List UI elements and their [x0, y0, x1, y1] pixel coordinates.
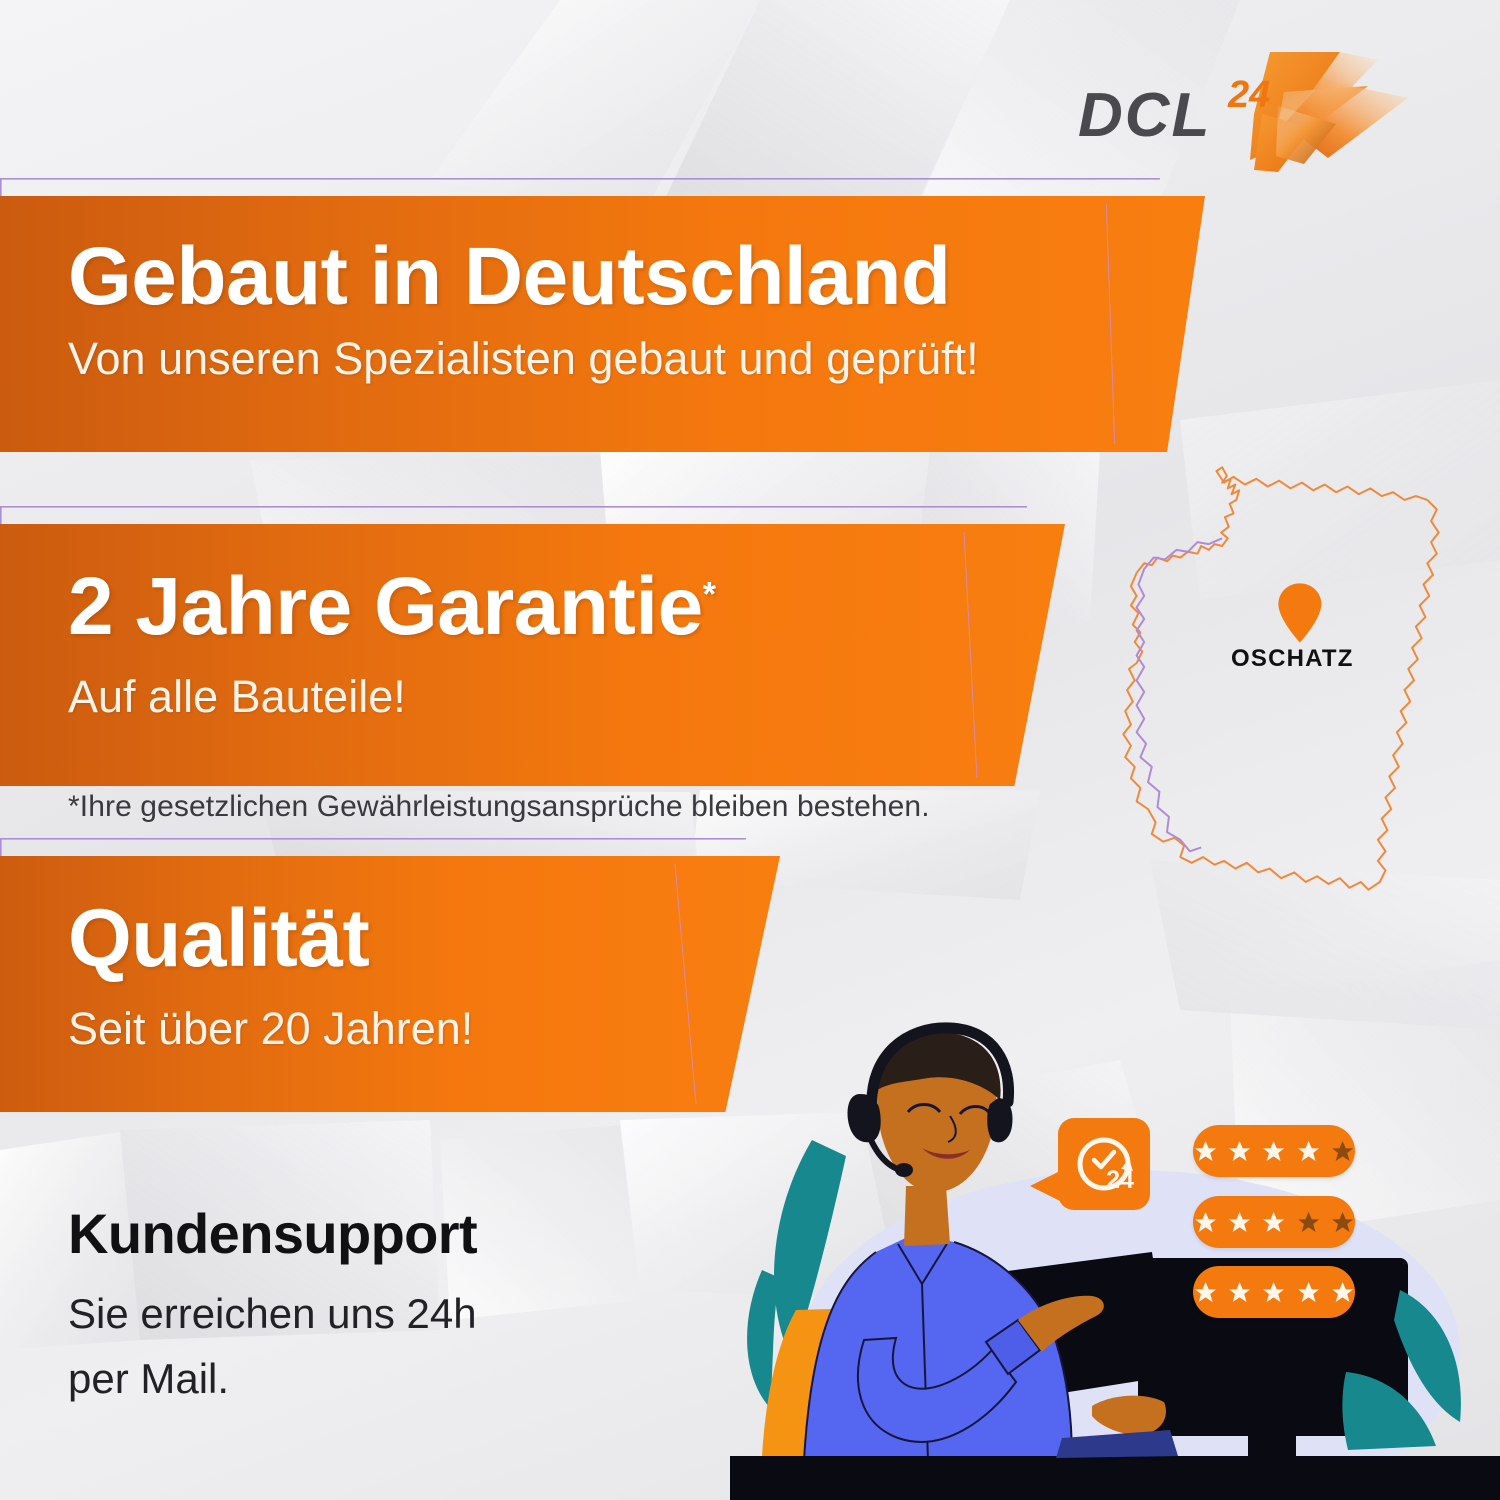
brand-logo: DCL 24 — [1078, 52, 1408, 172]
germany-west-border-path — [1137, 538, 1223, 851]
star-icon — [1261, 1209, 1286, 1236]
logo-wordmark: DCL — [1078, 80, 1211, 151]
agent-neck — [904, 1186, 950, 1246]
star-icon-empty — [1330, 1138, 1355, 1165]
headset-earcup — [848, 1094, 881, 1142]
banner-content: Gebaut in Deutschland Von unseren Spezia… — [68, 236, 979, 384]
map-city-label: OSCHATZ — [1231, 645, 1354, 673]
banner-gebaut-in-deutschland: Gebaut in Deutschland Von unseren Spezia… — [0, 196, 1205, 452]
support-agent-illustration — [700, 1020, 1500, 1500]
star-icon — [1296, 1279, 1321, 1306]
banner-subtitle: Von unseren Spezialisten gebaut und gepr… — [68, 334, 979, 384]
germany-outline-path — [1123, 467, 1438, 889]
star-icon — [1330, 1279, 1355, 1306]
star-icon — [1227, 1138, 1252, 1165]
banner-title: 2 Jahre Garantie* — [68, 566, 716, 648]
star-icon — [1296, 1138, 1321, 1165]
rating-pill-3 — [1193, 1266, 1355, 1318]
star-icon — [1227, 1209, 1252, 1236]
rating-pill-1 — [1193, 1125, 1355, 1177]
star-icon — [1261, 1138, 1286, 1165]
map-pin-icon — [1278, 583, 1321, 642]
banner-title-superscript: * — [703, 576, 716, 614]
banner-title: Qualität — [68, 898, 473, 980]
banner-content: 2 Jahre Garantie* Auf alle Bauteile! — [68, 566, 716, 722]
banner-qualitaet: Qualität Seit über 20 Jahren! — [0, 856, 780, 1112]
promo-graphic: DCL 24 Gebaut in Deutschland Von unseren… — [0, 0, 1500, 1500]
germany-map — [1090, 440, 1490, 940]
star-icon-empty — [1296, 1209, 1321, 1236]
banner-content: Qualität Seit über 20 Jahren! — [68, 898, 473, 1054]
star-icon — [1193, 1209, 1218, 1236]
clock-24-icon: 24 — [1058, 1118, 1150, 1210]
headset-earcup-right — [987, 1098, 1012, 1142]
logo-superscript: 24 — [1228, 74, 1270, 117]
support-24h-badge: 24 — [1058, 1118, 1150, 1210]
star-icon — [1193, 1279, 1218, 1306]
banner-title: Gebaut in Deutschland — [68, 236, 979, 318]
customer-support-block: Kundensupport Sie erreichen uns 24h per … — [68, 1206, 477, 1410]
banner-2-jahre-garantie: 2 Jahre Garantie* Auf alle Bauteile! — [0, 524, 1065, 786]
support-title: Kundensupport — [68, 1206, 477, 1262]
star-icon — [1227, 1279, 1252, 1306]
support-line-1: Sie erreichen uns 24h — [68, 1284, 477, 1345]
banner-subtitle: Auf alle Bauteile! — [68, 672, 716, 722]
desk-front — [730, 1456, 1500, 1500]
star-icon — [1261, 1279, 1286, 1306]
headset-mic-tip — [895, 1163, 913, 1177]
star-icon — [1193, 1138, 1218, 1165]
support-line-2: per Mail. — [68, 1349, 477, 1410]
warranty-footnote: *Ihre gesetzlichen Gewährleistungsansprü… — [68, 790, 930, 824]
rating-pill-2 — [1193, 1196, 1355, 1248]
star-icon-empty — [1330, 1209, 1355, 1236]
banner-subtitle: Seit über 20 Jahren! — [68, 1004, 473, 1054]
badge-hours-text: 24 — [1106, 1166, 1134, 1194]
